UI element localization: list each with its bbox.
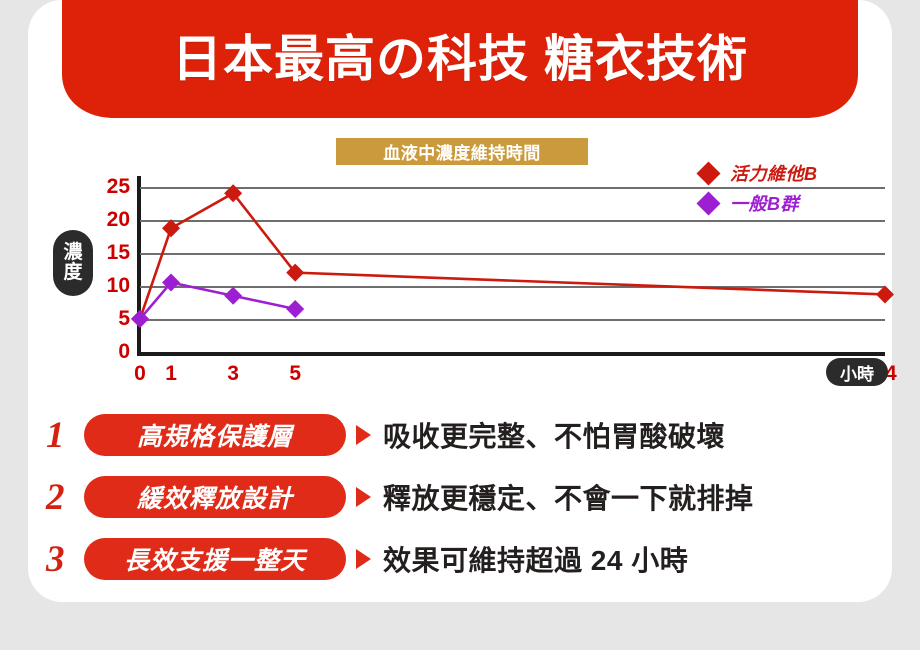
x-tick-label: 5 (289, 362, 301, 386)
y-tick-label: 10 (78, 274, 130, 298)
feature-row: 3長效支援一整天效果可維持超過 24 小時 (0, 528, 920, 590)
triangle-right-icon (356, 549, 371, 569)
y-tick-label: 0 (78, 340, 130, 364)
legend-item-0: 活力維他B (700, 158, 890, 188)
feature-pill-label[interactable]: 長效支援一整天 (84, 538, 346, 580)
legend-label-1: 一般B群 (730, 190, 799, 216)
feature-description: 效果可維持超過 24 小時 (383, 539, 688, 579)
infographic-root: 日本最高の科技 糖衣技術 血液中濃度維持時間 濃 度 0510152025 01… (0, 0, 920, 650)
feature-pill-label[interactable]: 高規格保護層 (84, 414, 346, 456)
feature-number: 2 (46, 479, 84, 516)
page-title: 日本最高の科技 糖衣技術 (0, 0, 920, 110)
diamond-icon (696, 161, 720, 185)
feature-number: 1 (46, 417, 84, 454)
chart: 血液中濃度維持時間 濃 度 0510152025 013524 小時 活力維他B… (0, 118, 920, 400)
chart-legend: 活力維他B 一般B群 (700, 158, 890, 218)
feature-description: 吸收更完整、不怕胃酸破壞 (383, 415, 725, 455)
data-point-marker (162, 219, 180, 237)
feature-description: 釋放更穩定、不會一下就排掉 (383, 477, 754, 517)
legend-item-1: 一般B群 (700, 188, 890, 218)
x-axis-unit-badge: 小時 (826, 358, 888, 386)
legend-label-0: 活力維他B (730, 160, 818, 186)
y-tick-label: 20 (78, 208, 130, 232)
y-tick-label: 15 (78, 241, 130, 265)
chart-title-badge: 血液中濃度維持時間 (336, 138, 588, 165)
series-line (140, 283, 295, 319)
header-banner: 日本最高の科技 糖衣技術 (0, 0, 920, 118)
data-point-marker (876, 285, 894, 303)
y-tick-label: 5 (78, 307, 130, 331)
feature-list: 1高規格保護層吸收更完整、不怕胃酸破壞2緩效釋放設計釋放更穩定、不會一下就排掉3… (0, 404, 920, 590)
feature-pill-label[interactable]: 緩效釋放設計 (84, 476, 346, 518)
data-point-marker (286, 300, 304, 318)
x-tick-label: 1 (165, 362, 177, 386)
feature-number: 3 (46, 541, 84, 578)
feature-row: 1高規格保護層吸收更完整、不怕胃酸破壞 (0, 404, 920, 466)
x-tick-label: 0 (134, 362, 146, 386)
x-axis-line (137, 352, 885, 356)
triangle-right-icon (356, 487, 371, 507)
y-tick-label: 25 (78, 175, 130, 199)
diamond-icon (696, 191, 720, 215)
feature-row: 2緩效釋放設計釋放更穩定、不會一下就排掉 (0, 466, 920, 528)
triangle-right-icon (356, 425, 371, 445)
data-point-marker (224, 287, 242, 305)
x-tick-label: 3 (227, 362, 239, 386)
